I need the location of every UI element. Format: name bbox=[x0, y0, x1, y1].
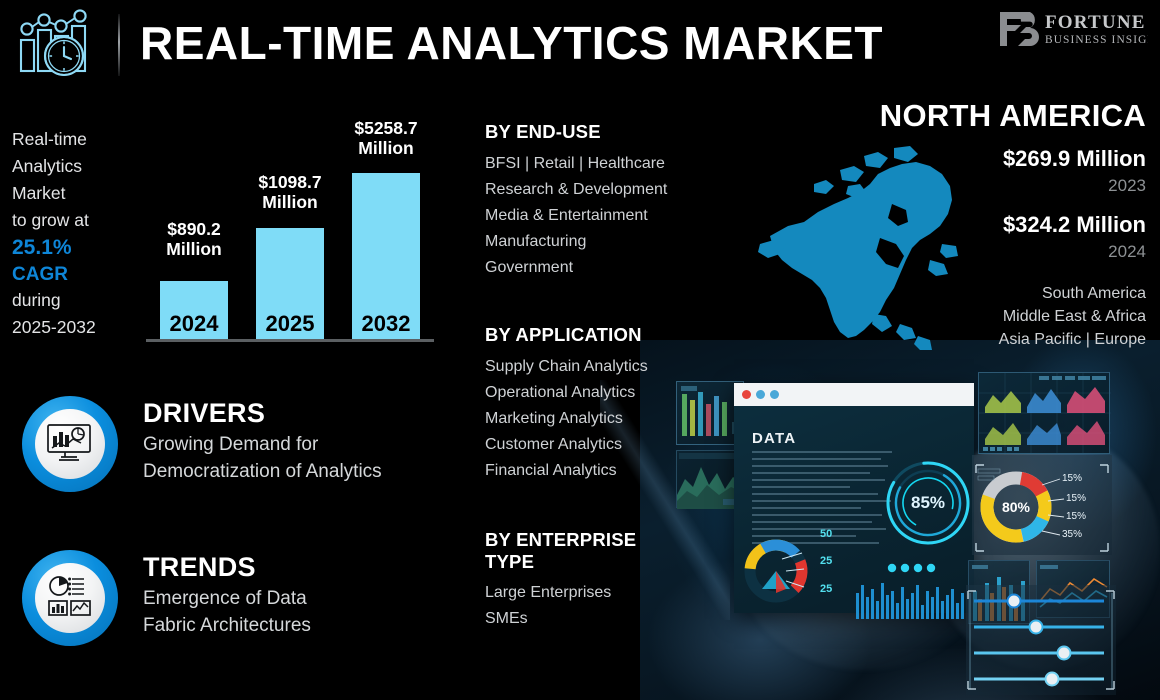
header-divider bbox=[118, 14, 120, 76]
window-titlebar bbox=[734, 383, 974, 406]
list-item: Media & Entertainment bbox=[485, 203, 667, 229]
list-item: BFSI | Retail | Healthcare bbox=[485, 151, 667, 177]
list-item: South America bbox=[846, 282, 1146, 305]
trends-description: Emergence of Data Fabric Architectures bbox=[143, 585, 483, 639]
trends-sub-line-2: Fabric Architectures bbox=[143, 615, 311, 636]
list-item: Middle East & Africa bbox=[846, 305, 1146, 328]
summary-line-2: Analytics bbox=[12, 153, 138, 180]
summary-line-6: 2025-2032 bbox=[12, 314, 138, 341]
dashboard-window-title: DATA bbox=[752, 430, 796, 447]
summary-line-1: Real-time bbox=[12, 126, 138, 153]
cagr-label: CAGR bbox=[12, 262, 138, 287]
minimize-icon[interactable] bbox=[756, 390, 765, 399]
list-item: Marketing Analytics bbox=[485, 406, 648, 432]
gauge-value: 85% bbox=[882, 457, 974, 549]
mini-gauge-chart-icon bbox=[742, 531, 820, 612]
status-dots-row bbox=[886, 561, 946, 580]
segment-by-application: BY APPLICATION Supply Chain Analytics Op… bbox=[485, 323, 648, 484]
market-size-bar-chart: $890.2 Million 2024 $1098.7 Million 2025… bbox=[146, 120, 446, 342]
cagr-value: 25.1% bbox=[12, 234, 138, 262]
donut-label-3: 15% bbox=[1066, 511, 1086, 522]
bar-label-2025: $1098.7 Million bbox=[236, 172, 344, 212]
dashboard-panel-sliders bbox=[966, 585, 1116, 695]
chart-baseline bbox=[146, 339, 434, 342]
region-title: NORTH AMERICA bbox=[826, 98, 1146, 134]
close-icon[interactable] bbox=[742, 390, 751, 399]
list-item: Manufacturing bbox=[485, 229, 667, 255]
segment-list: Supply Chain Analytics Operational Analy… bbox=[485, 354, 648, 484]
svg-text:FORTUNE: FORTUNE bbox=[1045, 12, 1146, 33]
drivers-sub-line-2: Democratization of Analytics bbox=[143, 461, 382, 482]
bar-year-2024: 2024 bbox=[160, 311, 228, 337]
trends-title: TRENDS bbox=[143, 552, 256, 583]
segment-heading: BY END-USE bbox=[485, 120, 667, 144]
header: REAL-TIME ANALYTICS MARKET FORTUNE BUSIN… bbox=[0, 0, 1160, 88]
bar-unit-2025: Million bbox=[262, 192, 317, 212]
analytics-clock-icon bbox=[16, 8, 98, 80]
monitor-analytics-icon bbox=[45, 419, 95, 470]
list-item: Asia Pacific | Europe bbox=[846, 328, 1146, 351]
list-item: Operational Analytics bbox=[485, 380, 648, 406]
trends-sub-line-1: Emergence of Data bbox=[143, 588, 307, 609]
bar-unit-2032: Million bbox=[358, 138, 413, 158]
svg-text:80%: 80% bbox=[1002, 499, 1031, 515]
icon-inner-circle bbox=[35, 409, 105, 479]
drivers-description: Growing Demand for Democratization of An… bbox=[143, 431, 483, 485]
icon-inner-circle bbox=[35, 563, 105, 633]
bar-amount-2032: $5258.7 bbox=[354, 118, 417, 138]
maximize-icon[interactable] bbox=[770, 390, 779, 399]
gauge-label-25b: 25 bbox=[820, 583, 832, 595]
bar-amount-2025: $1098.7 bbox=[258, 172, 321, 192]
bar-year-2032: 2032 bbox=[352, 311, 420, 337]
fb-monogram-icon bbox=[1000, 12, 1039, 46]
segment-by-end-use: BY END-USE BFSI | Retail | Healthcare Re… bbox=[485, 120, 667, 281]
dashboard-panel-area-charts bbox=[978, 372, 1110, 454]
bar-year-2025: 2025 bbox=[256, 311, 324, 337]
fortune-business-insights-logo: FORTUNE BUSINESS INSIGHTS bbox=[996, 8, 1148, 50]
bar-unit-2024: Million bbox=[166, 239, 221, 259]
dashboard-panel-donut-chart: 80% 15% 15% 15% 35% bbox=[972, 455, 1112, 555]
drivers-sub-line-1: Growing Demand for bbox=[143, 434, 318, 455]
summary-line-4: to grow at bbox=[12, 207, 138, 234]
summary-line-5: during bbox=[12, 287, 138, 314]
pie-bar-report-icon bbox=[46, 573, 94, 624]
drivers-icon-badge bbox=[22, 396, 118, 492]
donut-label-1: 15% bbox=[1062, 473, 1082, 484]
region-stat-year-2024: 2024 bbox=[1108, 242, 1146, 262]
list-item: Research & Development bbox=[485, 177, 667, 203]
page-title: REAL-TIME ANALYTICS MARKET bbox=[140, 13, 970, 73]
infographic-canvas: REAL-TIME ANALYTICS MARKET FORTUNE BUSIN… bbox=[0, 0, 1160, 700]
list-item: Supply Chain Analytics bbox=[485, 354, 648, 380]
region-stat-value-2024: $324.2 Million bbox=[1003, 212, 1146, 238]
svg-text:BUSINESS INSIGHTS: BUSINESS INSIGHTS bbox=[1045, 34, 1148, 46]
drivers-title: DRIVERS bbox=[143, 398, 265, 429]
summary-line-3: Market bbox=[12, 180, 138, 207]
gauge-label-25a: 25 bbox=[820, 555, 832, 567]
bar-label-2024: $890.2 Million bbox=[140, 219, 248, 259]
market-summary: Real-time Analytics Market to grow at 25… bbox=[12, 126, 138, 341]
list-item: SMEs bbox=[485, 606, 655, 632]
donut-label-4: 35% bbox=[1062, 529, 1082, 540]
mini-bar-cluster-icon bbox=[854, 579, 972, 624]
list-item: Customer Analytics bbox=[485, 432, 648, 458]
list-item: Government bbox=[485, 255, 667, 281]
trends-icon-badge bbox=[22, 550, 118, 646]
region-stat-value-2023: $269.9 Million bbox=[1003, 146, 1146, 172]
list-item: Financial Analytics bbox=[485, 458, 648, 484]
bar-label-2032: $5258.7 Million bbox=[332, 118, 440, 158]
segment-list: BFSI | Retail | Healthcare Research & De… bbox=[485, 151, 667, 281]
list-item: Large Enterprises bbox=[485, 580, 655, 606]
other-regions-list: South America Middle East & Africa Asia … bbox=[846, 282, 1146, 351]
segment-heading: BY ENTERPRISE TYPE bbox=[485, 529, 655, 573]
segment-heading: BY APPLICATION bbox=[485, 323, 648, 347]
dashboard-window: DATA 85% bbox=[734, 383, 974, 613]
bar-amount-2024: $890.2 bbox=[167, 219, 221, 239]
donut-label-2: 15% bbox=[1066, 493, 1086, 504]
segment-by-enterprise-type: BY ENTERPRISE TYPE Large Enterprises SME… bbox=[485, 529, 655, 632]
gauge-label-50: 50 bbox=[820, 528, 832, 540]
region-stat-year-2023: 2023 bbox=[1108, 176, 1146, 196]
segment-list: Large Enterprises SMEs bbox=[485, 580, 655, 632]
